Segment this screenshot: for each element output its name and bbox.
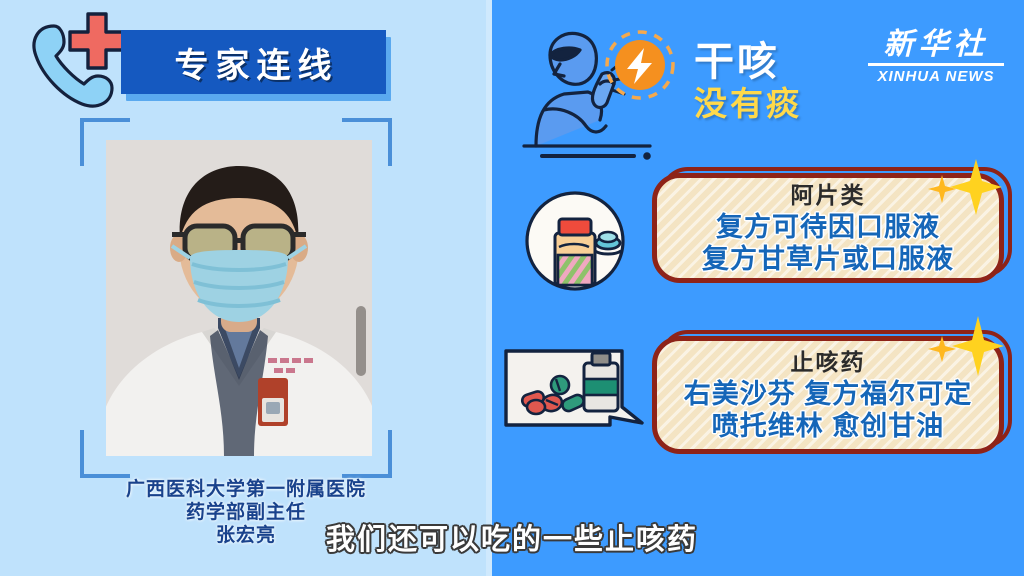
- card-line-1: 复方可待因口服液: [716, 211, 940, 243]
- subtitle-text: 我们还可以吃的一些止咳药: [0, 516, 1024, 558]
- logo-rule: [868, 63, 1004, 66]
- symptom-headline: 干咳 没有痰: [694, 40, 802, 124]
- expert-banner: 专家连线: [0, 0, 492, 120]
- headline-main: 干咳: [694, 40, 802, 84]
- medicine-card-2[interactable]: 止咳药 右美沙芬 复方福尔可定 喷托维林 愈创甘油: [652, 330, 1004, 448]
- caption-line-1: 广西医科大学第一附属医院: [40, 478, 452, 501]
- card-line-2: 复方甘草片或口服液: [702, 243, 954, 275]
- headline-sub: 没有痰: [694, 84, 802, 124]
- medical-cross-icon: [66, 10, 128, 72]
- card-line-2: 喷托维林 愈创甘油: [712, 410, 945, 442]
- card-line-1: 右美沙芬 复方福尔可定: [684, 378, 973, 410]
- pills-speech-bubble-icon: [500, 345, 650, 445]
- card-title: 阿片类: [791, 181, 866, 210]
- card-body: 阿片类 复方可待因口服液 复方甘草片或口服液: [652, 173, 1004, 283]
- coughing-person-icon: [516, 22, 678, 162]
- medicine-card-1[interactable]: 阿片类 复方可待因口服液 复方甘草片或口服液: [652, 167, 1004, 277]
- video-frame: 专家连线: [0, 0, 1024, 576]
- pill-bottle-circle-icon: [519, 189, 631, 293]
- card-body: 止咳药 右美沙芬 复方福尔可定 喷托维林 愈创甘油: [652, 336, 1004, 454]
- xinhua-logo: 新华社 XINHUA NEWS: [866, 28, 1006, 92]
- card-title: 止咳药: [791, 348, 866, 377]
- banner-plate: 专家连线: [121, 30, 386, 94]
- logo-cn: 新华社: [866, 28, 1006, 62]
- banner-title: 专家连线: [169, 38, 339, 87]
- doctor-photo: [106, 140, 372, 456]
- logo-en: XINHUA NEWS: [866, 68, 1006, 85]
- portrait-frame: [80, 118, 392, 478]
